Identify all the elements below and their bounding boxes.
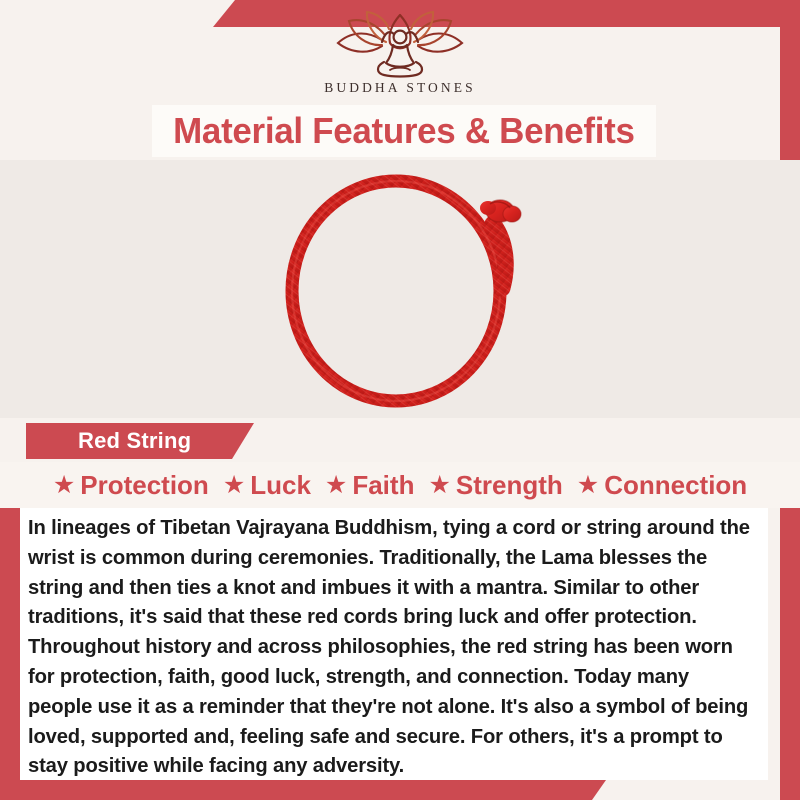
star-icon: ★ <box>53 473 75 498</box>
feature-label: Strength <box>456 470 563 501</box>
star-icon: ★ <box>428 473 450 498</box>
page-title: Material Features & Benefits <box>173 110 634 152</box>
product-label-chip: Red String <box>26 423 254 459</box>
lotus-meditation-icon <box>332 10 468 78</box>
brand-name: BUDDHA STONES <box>285 80 515 96</box>
poster-root: BUDDHA STONES Material Features & Benefi… <box>0 0 800 800</box>
feature-item-strength: ★ Strength <box>428 470 562 501</box>
star-icon: ★ <box>223 473 245 498</box>
title-banner: Material Features & Benefits <box>152 105 656 157</box>
feature-label: Connection <box>604 470 747 501</box>
feature-label: Luck <box>250 470 311 501</box>
product-image-area <box>0 160 800 418</box>
feature-label: Faith <box>352 470 414 501</box>
feature-label: Protection <box>80 470 209 501</box>
feature-list: ★ Protection ★ Luck ★ Faith ★ Strength ★… <box>0 462 800 508</box>
feature-item-protection: ★ Protection <box>53 470 209 501</box>
feature-item-faith: ★ Faith <box>325 470 415 501</box>
description-panel: In lineages of Tibetan Vajrayana Buddhis… <box>20 508 768 780</box>
product-label-text: Red String <box>78 428 191 454</box>
description-text: In lineages of Tibetan Vajrayana Buddhis… <box>28 514 758 782</box>
feature-item-connection: ★ Connection <box>577 470 747 501</box>
product-label-band: Red String <box>0 418 800 464</box>
brand-logo: BUDDHA STONES <box>285 10 515 96</box>
star-icon: ★ <box>577 473 599 498</box>
feature-item-luck: ★ Luck <box>223 470 311 501</box>
red-string-bracelet-image <box>250 164 550 414</box>
star-icon: ★ <box>325 473 347 498</box>
header: BUDDHA STONES <box>0 0 800 105</box>
